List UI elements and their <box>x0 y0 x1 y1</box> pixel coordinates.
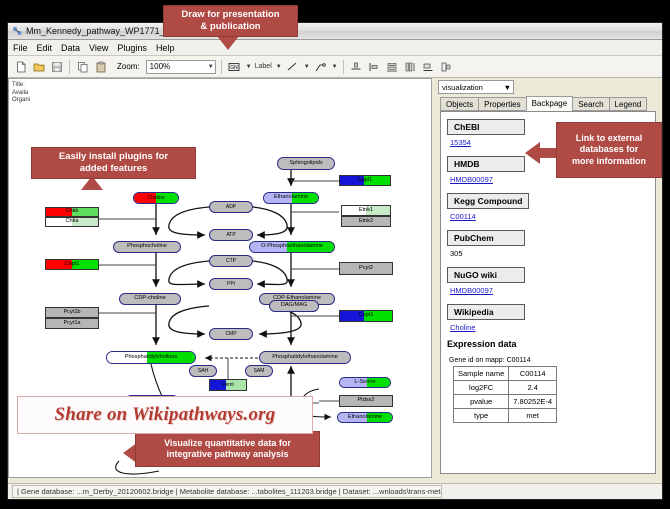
gene-node-chka[interactable]: Chka <box>45 217 99 227</box>
expr-key-sample-name: Sample name <box>454 367 509 381</box>
metabolite-node-phosphatidylcholines[interactable]: Phosphatidylcholines <box>106 351 196 364</box>
node-label: Cept1 <box>359 313 374 319</box>
node-label: SAM <box>254 369 265 374</box>
metabolite-node-ethanolamine[interactable]: Ethanolamine <box>337 412 393 423</box>
menu-help[interactable]: Help <box>156 43 175 53</box>
node-label: Etnk1 <box>359 208 373 214</box>
interaction-dropdown-icon[interactable]: ▼ <box>332 64 338 70</box>
line-icon[interactable] <box>285 59 300 74</box>
toolbar-separator-3 <box>343 60 344 74</box>
expr-val-sample-name: C00114 <box>509 367 557 381</box>
expression-table: Sample name C00114 log2FC 2.4 pvalue 7.8… <box>453 366 557 423</box>
order-front-icon[interactable] <box>439 59 454 74</box>
title-bar: Mm_Kennedy_pathway_WP1771_45176.gpml <box>8 23 662 40</box>
metabolite-node-ethanolamine[interactable]: Ethanolamine <box>263 192 319 204</box>
tab-legend[interactable]: Legend <box>609 97 648 111</box>
metabolite-node-phosphocholine[interactable]: Phosphocholine <box>113 241 181 253</box>
node-label: Chpt1 <box>65 262 80 268</box>
status-text: | Gene database: ...m_Derby_20120602.bri… <box>12 485 442 498</box>
draw-callout-arrow <box>217 36 239 50</box>
metabolite-node-ctp[interactable]: CTP <box>209 255 253 267</box>
backpage-value-pubchem: 305 <box>450 249 649 258</box>
visualization-value: visualization <box>442 83 483 92</box>
node-label: Phosphocholine <box>127 244 167 250</box>
interaction-icon[interactable] <box>313 59 328 74</box>
node-label: Phosphatidylethanolamine <box>272 355 338 361</box>
node-label: Chkb <box>65 209 78 215</box>
metabolite-node-ppi[interactable]: PPi <box>209 278 253 290</box>
chevron-down-icon: ▼ <box>208 64 214 70</box>
align-top-icon[interactable] <box>349 59 364 74</box>
gene-node-pcyt1a[interactable]: Pcyt1a <box>45 318 99 329</box>
share-banner: Share on Wikipathways.org <box>17 396 313 434</box>
node-label: ADP <box>226 205 236 210</box>
open-folder-icon[interactable] <box>31 59 46 74</box>
order-back-icon[interactable] <box>421 59 436 74</box>
node-label: Chka <box>65 219 78 225</box>
tab-search[interactable]: Search <box>572 97 609 111</box>
share-banner-text: Share on Wikipathways.org <box>55 404 276 426</box>
metabolite-node-choline[interactable]: Choline <box>133 192 179 204</box>
toolbar-separator-2 <box>221 60 222 74</box>
node-label: Pcyt1a <box>63 321 80 327</box>
node-label: Ethanolamine <box>348 415 382 421</box>
status-bar: | Gene database: ...m_Derby_20120602.bri… <box>8 483 662 499</box>
callout-link-line3: more information <box>572 156 646 167</box>
node-label: CMP <box>225 332 236 337</box>
node-label: Phosphatidylcholines <box>125 355 178 361</box>
menu-plugins[interactable]: Plugins <box>117 43 147 53</box>
metabolite-node-phosphatidylethanolamine[interactable]: Phosphatidylethanolamine <box>259 351 351 364</box>
zoom-value: 100% <box>150 62 170 71</box>
backpage-header-nugo: NuGO wiki <box>447 267 525 283</box>
menu-file[interactable]: File <box>13 43 28 53</box>
pathway-canvas[interactable]: Title: Availa Organi <box>8 78 432 478</box>
node-label: CTP <box>226 259 236 264</box>
node-label: Ethanolamine <box>274 195 308 201</box>
toolbar-separator-1 <box>69 60 70 74</box>
expr-val-pvalue: 7.80252E-4 <box>509 395 557 409</box>
gene-node-pemt[interactable]: Pemt <box>209 379 247 391</box>
chevron-down-icon: ▼ <box>504 83 511 92</box>
gene-node-cept1[interactable]: Cept1 <box>339 310 393 322</box>
new-document-icon[interactable] <box>13 59 28 74</box>
gene-node-pcyt1b[interactable]: Pcyt1b <box>45 307 99 318</box>
tab-properties[interactable]: Properties <box>478 97 526 111</box>
metabolite-node-sam[interactable]: SAM <box>245 365 273 377</box>
node-label: O-Phosphoethanolamine <box>261 244 323 250</box>
node-label: SAH <box>198 369 208 374</box>
save-disk-icon[interactable] <box>49 59 64 74</box>
node-label: CDP-choline <box>134 296 165 302</box>
expr-key-log2fc: log2FC <box>454 381 509 395</box>
paste-icon[interactable] <box>93 59 108 74</box>
backpage-header-kegg: Kegg Compound <box>447 193 529 209</box>
tab-objects[interactable]: Objects <box>440 97 479 111</box>
metabolite-node-sphingolipids[interactable]: Sphingolipids <box>277 157 335 170</box>
metabolite-node-dag-mag[interactable]: DAG/MAG <box>269 300 319 312</box>
menu-edit[interactable]: Edit <box>37 43 53 53</box>
backpage-header-hmdb: HMDB <box>447 156 525 172</box>
visualization-combobox[interactable]: visualization ▼ <box>438 80 514 94</box>
callout-visualize: Visualize quantitative data for integrat… <box>135 431 320 467</box>
stack-vertical-icon[interactable] <box>385 59 400 74</box>
zoom-combobox[interactable]: 100% ▼ <box>146 60 216 74</box>
node-label: L-Serine <box>354 380 375 386</box>
node-label: Etnk2 <box>359 219 373 225</box>
link-callout-arrow <box>525 142 540 164</box>
callout-plugins: Easily install plugins for added feature… <box>31 147 196 179</box>
toolbar: Zoom: 100% ▼ GN ▼ Label ▼ ▼ ▼ <box>8 56 662 78</box>
expr-val-type: met <box>509 409 557 423</box>
menu-view[interactable]: View <box>89 43 108 53</box>
common-height-icon[interactable] <box>403 59 418 74</box>
svg-text:GN: GN <box>230 64 238 70</box>
node-label: PPi <box>227 282 235 287</box>
expr-val-log2fc: 2.4 <box>509 381 557 395</box>
node-label: ATP <box>226 233 235 238</box>
pathvisio-window: Mm_Kennedy_pathway_WP1771_45176.gpml Fil… <box>7 22 663 500</box>
align-left-icon[interactable] <box>367 59 382 74</box>
backpage-link-nugo[interactable]: HMDB00097 <box>450 286 649 295</box>
callout-draw-line1: Draw for presentation <box>181 9 279 21</box>
metabolite-node-adp[interactable]: ADP <box>209 201 253 213</box>
backpage-link-wikipedia[interactable]: Choline <box>450 323 649 332</box>
tab-backpage-label: Backpage <box>532 99 568 108</box>
callout-plugins-line1: Easily install plugins for <box>59 151 168 163</box>
metabolite-node-sah[interactable]: SAH <box>189 365 217 377</box>
backpage-header-chebi: ChEBI <box>447 119 525 135</box>
backpage-header-pubchem: PubChem <box>447 230 525 246</box>
tab-legend-label: Legend <box>615 100 642 109</box>
table-row: type met <box>454 409 557 423</box>
node-label: CDP-Ethanolamine <box>273 296 321 302</box>
visualization-row: visualization ▼ <box>432 78 662 96</box>
callout-visualize-line2: integrative pathway analysis <box>164 449 291 460</box>
gene-node-sgpl1[interactable]: Sgpl1 <box>339 175 391 186</box>
gene-node-chkb[interactable]: Chkb <box>45 207 99 217</box>
node-label: Choline <box>148 196 165 201</box>
copy-icon[interactable] <box>75 59 90 74</box>
node-label: Pcyt1b <box>63 310 80 316</box>
gene-node-etnk2[interactable]: Etnk2 <box>341 216 391 227</box>
callout-link-line1: Link to external <box>572 133 646 144</box>
gene-node-ptdss2[interactable]: Ptdss2 <box>339 395 393 407</box>
line-dropdown-icon[interactable]: ▼ <box>304 64 310 70</box>
node-label: Pcyt2 <box>359 266 373 272</box>
datanode-dropdown-icon[interactable]: ▼ <box>246 64 252 70</box>
expression-data-title: Expression data <box>447 339 649 349</box>
gene-id-line: Gene id on mapp: C00114 <box>449 357 649 364</box>
table-row: pvalue 7.80252E-4 <box>454 395 557 409</box>
tab-backpage[interactable]: Backpage <box>526 96 574 111</box>
node-label: DAG/MAG <box>281 303 307 309</box>
callout-plugins-line2: added features <box>59 163 168 175</box>
gene-node-etnk1[interactable]: Etnk1 <box>341 205 391 216</box>
backpage-header-wikipedia: Wikipedia <box>447 304 525 320</box>
tab-objects-label: Objects <box>446 100 473 109</box>
metabolite-node-o-phosphoethanolamine[interactable]: O-Phosphoethanolamine <box>249 241 335 253</box>
callout-link: Link to external databases for more info… <box>556 122 662 178</box>
table-row: log2FC 2.4 <box>454 381 557 395</box>
menu-bar: File Edit Data View Plugins Help <box>8 40 662 56</box>
metabolite-node-cmp[interactable]: CMP <box>209 328 253 340</box>
node-label: Sgpl1 <box>358 178 372 184</box>
callout-link-line2: databases for <box>572 144 646 155</box>
callout-draw-line2: & publication <box>181 21 279 33</box>
expr-key-type: type <box>454 409 509 423</box>
expr-key-pvalue: pvalue <box>454 395 509 409</box>
pathvisio-icon <box>12 26 22 36</box>
side-panel-tabs: Objects Properties Backpage Search Legen… <box>432 96 662 111</box>
gene-node-pcyt2[interactable]: Pcyt2 <box>339 262 393 275</box>
backpage-link-kegg[interactable]: C00114 <box>450 212 649 221</box>
menu-data[interactable]: Data <box>61 43 80 53</box>
callout-visualize-line1: Visualize quantitative data for <box>164 438 291 449</box>
label-tool-text[interactable]: Label <box>255 63 272 70</box>
tab-properties-label: Properties <box>484 100 520 109</box>
node-label: Pemt <box>222 383 234 388</box>
datanode-icon[interactable]: GN <box>227 59 242 74</box>
label-dropdown-icon[interactable]: ▼ <box>276 64 282 70</box>
metabolite-node-l-serine[interactable]: L-Serine <box>339 377 391 388</box>
zoom-label: Zoom: <box>117 62 140 71</box>
node-label: Sphingolipids <box>289 161 322 167</box>
metabolite-node-cdp-choline[interactable]: CDP-choline <box>119 293 181 305</box>
tab-search-label: Search <box>578 100 603 109</box>
callout-draw: Draw for presentation & publication <box>163 5 298 37</box>
table-row: Sample name C00114 <box>454 367 557 381</box>
gene-node-chpt1[interactable]: Chpt1 <box>45 259 99 270</box>
metabolite-node-atp[interactable]: ATP <box>209 229 253 241</box>
node-label: Ptdss2 <box>357 398 374 404</box>
